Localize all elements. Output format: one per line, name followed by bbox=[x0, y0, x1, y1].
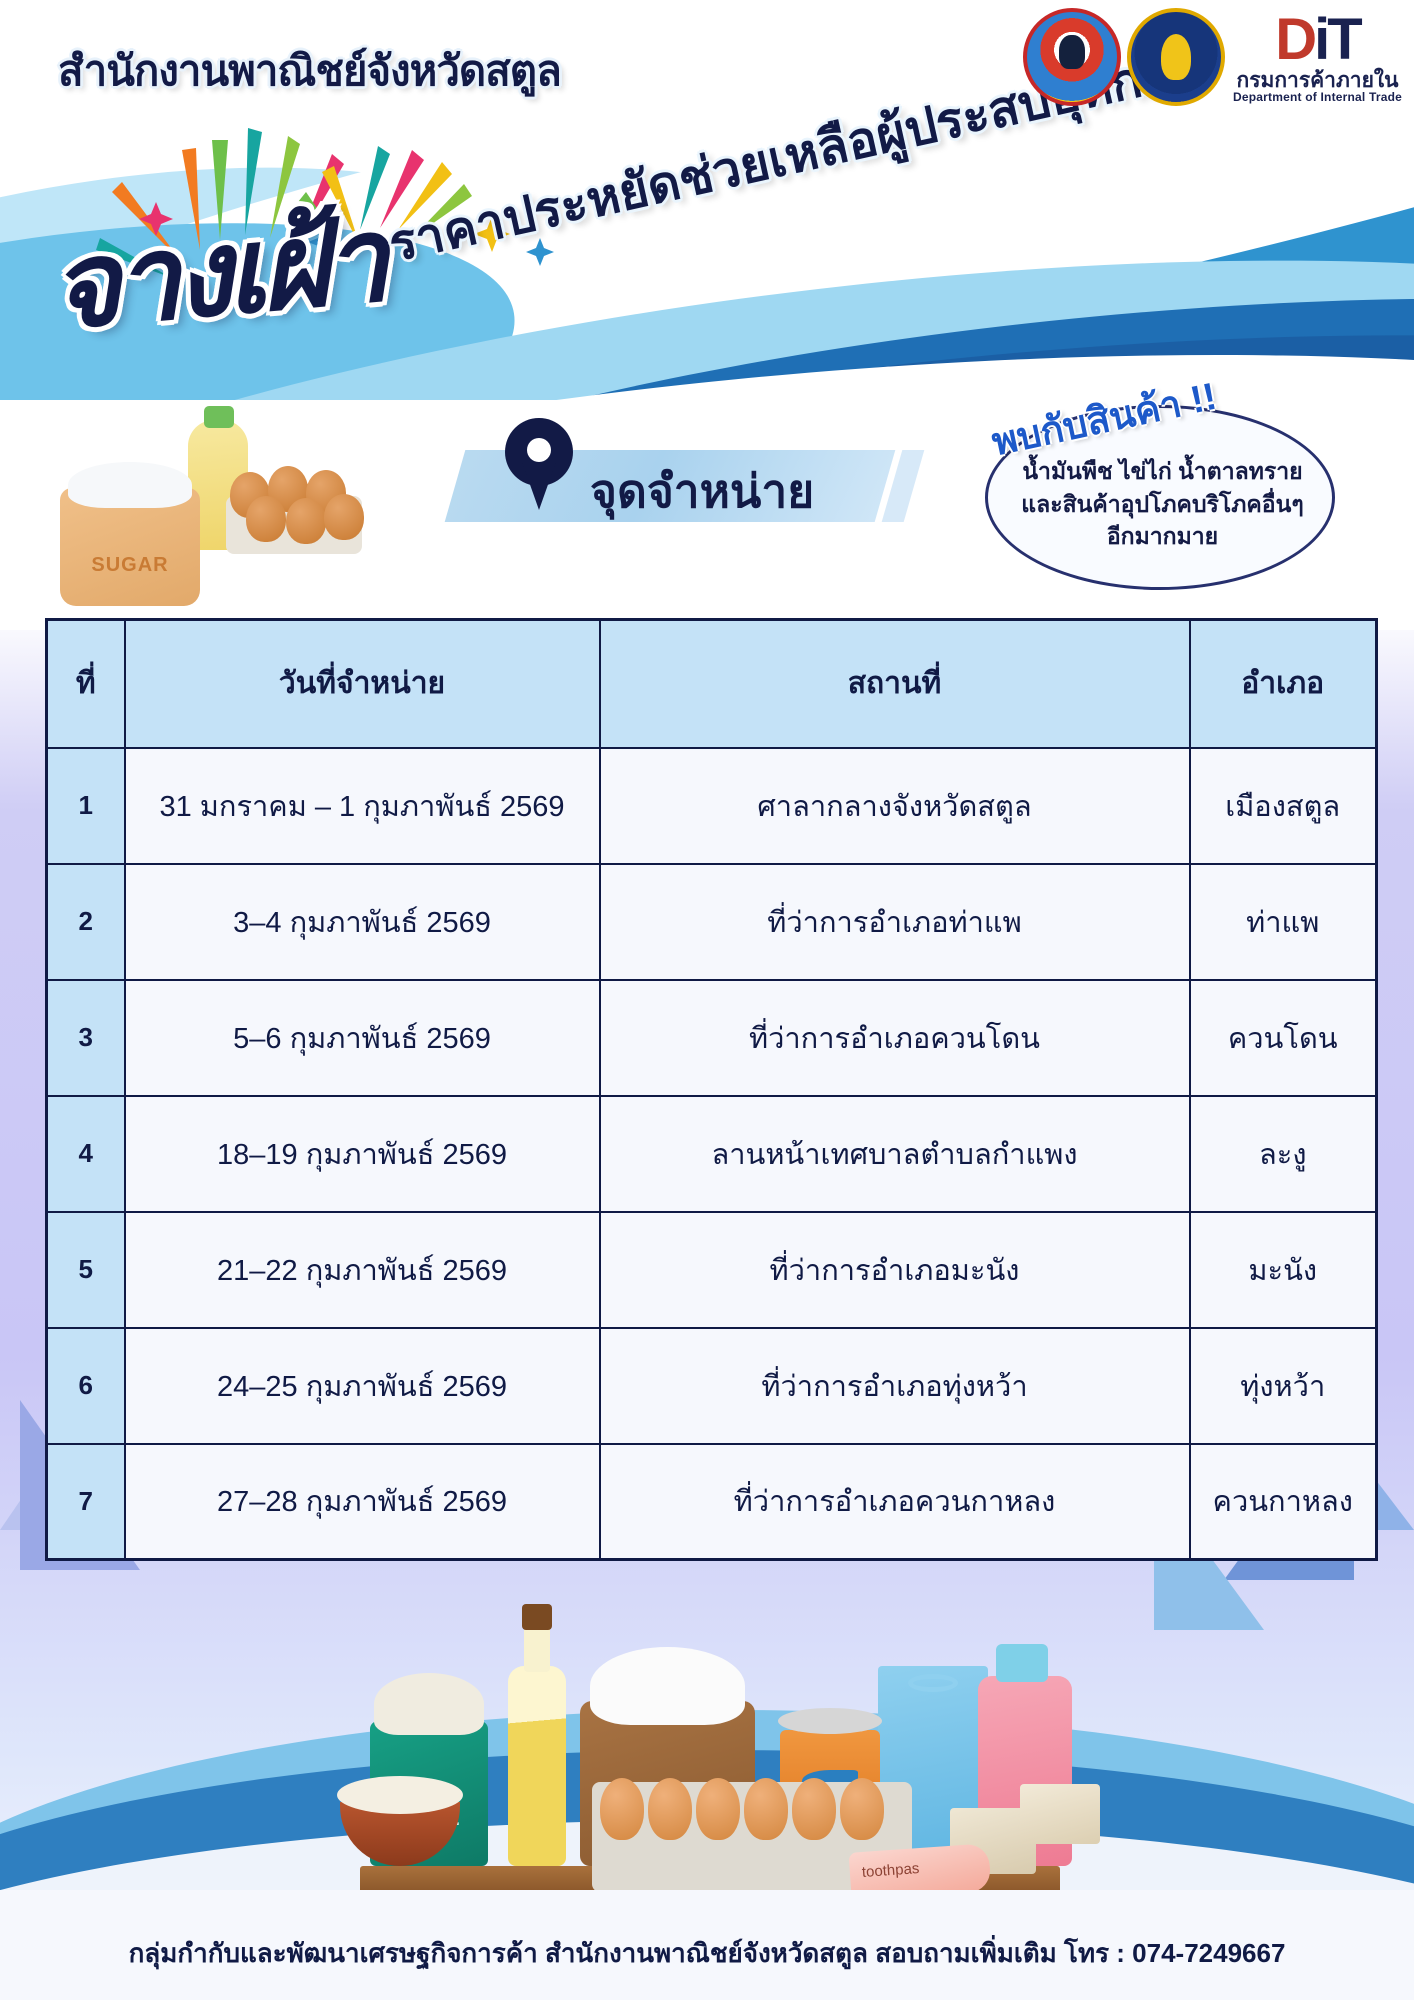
egg-icon bbox=[600, 1778, 644, 1840]
logo-row: DiT กรมการค้าภายใน Department of Interna… bbox=[1023, 8, 1402, 106]
detergent-cap-icon bbox=[996, 1644, 1048, 1682]
table-row: 7 27–28 กุมภาพันธ์ 2569 ที่ว่าการอำเภอคว… bbox=[47, 1444, 1377, 1560]
sugar-sack-icon: SUGAR bbox=[60, 488, 200, 606]
egg-icon bbox=[324, 494, 364, 540]
groceries-illustration-bottom: SUGAR RICE toothpas bbox=[330, 1550, 1090, 1930]
poster-root: สำนักงานพาณิชย์จังหวัดสตูล DiT กรมการค้า… bbox=[0, 0, 1414, 2000]
callout-line: และสินค้าอุปโภคบริโภคอื่นๆ bbox=[990, 488, 1335, 521]
dit-english-name: Department of Internal Trade bbox=[1233, 91, 1402, 103]
egg-icon bbox=[246, 496, 286, 542]
cell-place: ที่ว่าการอำเภอมะนัง bbox=[600, 1212, 1190, 1328]
table-row: 3 5–6 กุมภาพันธ์ 2569 ที่ว่าการอำเภอควนโ… bbox=[47, 980, 1377, 1096]
callout-body: น้ำมันพืช ไข่ไก่ น้ำตาลทราย และสินค้าอุป… bbox=[990, 455, 1335, 553]
cell-place: ที่ว่าการอำเภอทุ่งหว้า bbox=[600, 1328, 1190, 1444]
table-row: 1 31 มกราคม – 1 กุมภาพันธ์ 2569 ศาลากลาง… bbox=[47, 748, 1377, 864]
cell-place: ที่ว่าการอำเภอควนโดน bbox=[600, 980, 1190, 1096]
egg-icon bbox=[286, 498, 326, 544]
dit-abbrev: DiT bbox=[1275, 11, 1359, 69]
column-header-amphoe: อำเภอ bbox=[1190, 620, 1377, 748]
map-pin-icon bbox=[505, 418, 573, 514]
can-lid-icon bbox=[778, 1708, 882, 1734]
cell-date: 27–28 กุมภาพันธ์ 2569 bbox=[125, 1444, 600, 1560]
bottle-cap-icon bbox=[522, 1604, 552, 1630]
egg-icon bbox=[744, 1778, 788, 1840]
soap-bar-icon bbox=[1020, 1784, 1100, 1844]
cell-index: 7 bbox=[47, 1444, 125, 1560]
egg-icon bbox=[840, 1778, 884, 1840]
table-row: 5 21–22 กุมภาพันธ์ 2569 ที่ว่าการอำเภอมะ… bbox=[47, 1212, 1377, 1328]
schedule-table-wrapper: ที่ วันที่จำหน่าย สถานที่ อำเภอ 1 31 มกร… bbox=[45, 618, 1375, 1561]
column-header-date: วันที่จำหน่าย bbox=[125, 620, 600, 748]
cell-index: 2 bbox=[47, 864, 125, 980]
cell-place: ศาลากลางจังหวัดสตูล bbox=[600, 748, 1190, 864]
schedule-table: ที่ วันที่จำหน่าย สถานที่ อำเภอ 1 31 มกร… bbox=[45, 618, 1378, 1561]
cell-amphoe: ควนกาหลง bbox=[1190, 1444, 1377, 1560]
egg-icon bbox=[696, 1778, 740, 1840]
oil-bottle-icon bbox=[508, 1666, 566, 1866]
column-header-place: สถานที่ bbox=[600, 620, 1190, 748]
cell-amphoe: มะนัง bbox=[1190, 1212, 1377, 1328]
table-header-row: ที่ วันที่จำหน่าย สถานที่ อำเภอ bbox=[47, 620, 1377, 748]
cell-index: 5 bbox=[47, 1212, 125, 1328]
cell-amphoe: เมืองสตูล bbox=[1190, 748, 1377, 864]
cell-amphoe: ทุ่งหว้า bbox=[1190, 1328, 1377, 1444]
footer-contact-text: กลุ่มกำกับและพัฒนาเศรษฐกิจการค้า สำนักงา… bbox=[0, 1933, 1414, 1974]
cell-date: 24–25 กุมภาพันธ์ 2569 bbox=[125, 1328, 600, 1444]
egg-icon bbox=[792, 1778, 836, 1840]
cell-place: ที่ว่าการอำเภอควนกาหลง bbox=[600, 1444, 1190, 1560]
dit-thai-name: กรมการค้าภายใน bbox=[1237, 70, 1399, 91]
cell-place: ที่ว่าการอำเภอท่าแพ bbox=[600, 864, 1190, 980]
cell-amphoe: ควนโดน bbox=[1190, 980, 1377, 1096]
ministry-of-commerce-seal-icon bbox=[1127, 8, 1225, 106]
toothpaste-label: toothpas bbox=[861, 1860, 920, 1881]
cell-date: 5–6 กุมภาพันธ์ 2569 bbox=[125, 980, 600, 1096]
bottle-neck-icon bbox=[524, 1624, 550, 1672]
cell-index: 3 bbox=[47, 980, 125, 1096]
bottle-cap-icon bbox=[204, 406, 234, 428]
cell-amphoe: ละงู bbox=[1190, 1096, 1377, 1212]
cell-date: 18–19 กุมภาพันธ์ 2569 bbox=[125, 1096, 600, 1212]
cell-date: 3–4 กุมภาพันธ์ 2569 bbox=[125, 864, 600, 980]
brand-wordmark: จางเฝ้า bbox=[42, 164, 390, 380]
egg-row bbox=[600, 1772, 906, 1840]
cell-date: 31 มกราคม – 1 กุมภาพันธ์ 2569 bbox=[125, 748, 600, 864]
cell-amphoe: ท่าแพ bbox=[1190, 864, 1377, 980]
cell-index: 4 bbox=[47, 1096, 125, 1212]
satun-province-seal-icon bbox=[1023, 8, 1121, 106]
page-title: สำนักงานพาณิชย์จังหวัดสตูล bbox=[58, 38, 561, 104]
cell-index: 6 bbox=[47, 1328, 125, 1444]
table-row: 4 18–19 กุมภาพันธ์ 2569 ลานหน้าเทศบาลตำบ… bbox=[47, 1096, 1377, 1212]
poster-header: สำนักงานพาณิชย์จังหวัดสตูล DiT กรมการค้า… bbox=[0, 0, 1414, 400]
callout-line: อีกมากมาย bbox=[990, 520, 1335, 553]
dit-logo: DiT กรมการค้าภายใน Department of Interna… bbox=[1233, 11, 1402, 103]
cell-index: 1 bbox=[47, 748, 125, 864]
egg-icon bbox=[648, 1778, 692, 1840]
table-row: 6 24–25 กุมภาพันธ์ 2569 ที่ว่าการอำเภอทุ… bbox=[47, 1328, 1377, 1444]
cell-date: 21–22 กุมภาพันธ์ 2569 bbox=[125, 1212, 600, 1328]
sugar-label: SUGAR bbox=[60, 554, 200, 577]
table-row: 2 3–4 กุมภาพันธ์ 2569 ที่ว่าการอำเภอท่าแ… bbox=[47, 864, 1377, 980]
location-banner-label: จุดจำหน่าย bbox=[590, 455, 814, 528]
groceries-illustration-left: SUGAR bbox=[30, 400, 360, 635]
bag-handle-icon bbox=[908, 1674, 958, 1692]
cell-place: ลานหน้าเทศบาลตำบลกำแพง bbox=[600, 1096, 1190, 1212]
column-header-index: ที่ bbox=[47, 620, 125, 748]
